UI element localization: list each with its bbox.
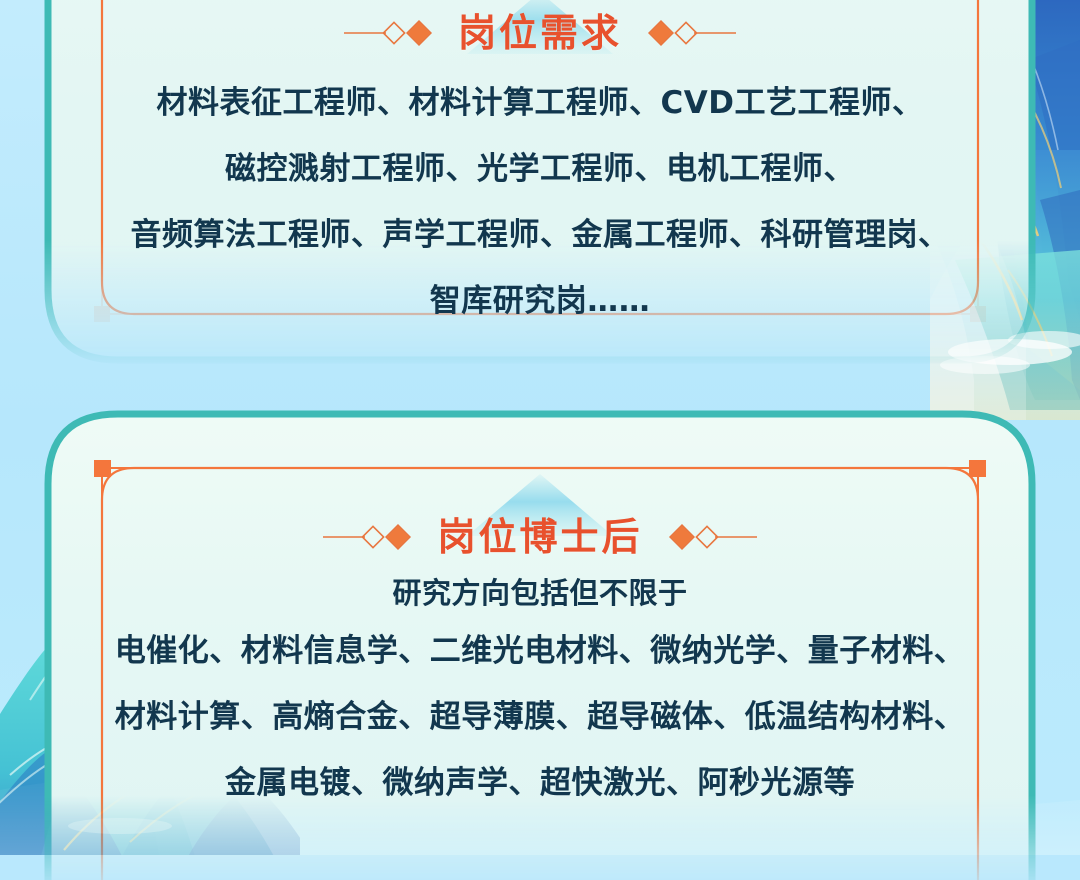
card2-subtitle: 研究方向包括但不限于 bbox=[44, 560, 1036, 626]
card2-title-row: 岗位博士后 bbox=[44, 518, 1036, 556]
card2-body: 电催化、材料信息学、二维光电材料、微纳光学、量子材料、 材料计算、高熵合金、超导… bbox=[44, 618, 1036, 816]
diamond-pair-right-ornament bbox=[636, 20, 736, 46]
job-requirements-card: 岗位需求 材料表征工程师、材料计算工程师、CVD工艺工程师、 磁控溅射工程师、光… bbox=[44, 0, 1036, 368]
card1-line-1: 材料表征工程师、材料计算工程师、CVD工艺工程师、 bbox=[44, 70, 1036, 136]
card2-line-3: 金属电镀、微纳声学、超快激光、阿秒光源等 bbox=[44, 750, 1036, 816]
card1-line-2: 磁控溅射工程师、光学工程师、电机工程师、 bbox=[44, 136, 1036, 202]
diamond-pair-left-ornament bbox=[344, 20, 444, 46]
card2-line-1: 电催化、材料信息学、二维光电材料、微纳光学、量子材料、 bbox=[44, 618, 1036, 684]
card1-title-block: 岗位需求 bbox=[44, 14, 1036, 52]
card1-title-row: 岗位需求 bbox=[44, 14, 1036, 52]
card1-line-3: 音频算法工程师、声学工程师、金属工程师、科研管理岗、 bbox=[44, 202, 1036, 268]
card2-title: 岗位博士后 bbox=[437, 518, 642, 556]
diamond-pair-right-ornament bbox=[657, 524, 757, 550]
diamond-pair-left-ornament bbox=[323, 524, 423, 550]
card1-line-4: 智库研究岗…… bbox=[44, 268, 1036, 334]
card2-line-2: 材料计算、高熵合金、超导薄膜、超导磁体、低温结构材料、 bbox=[44, 684, 1036, 750]
card1-body: 材料表征工程师、材料计算工程师、CVD工艺工程师、 磁控溅射工程师、光学工程师、… bbox=[44, 70, 1036, 334]
card1-title: 岗位需求 bbox=[458, 14, 622, 52]
card2-title-block: 岗位博士后 bbox=[44, 518, 1036, 556]
card2-subtitle-block: 研究方向包括但不限于 bbox=[44, 560, 1036, 626]
postdoc-positions-card: 岗位博士后 研究方向包括但不限于 电催化、材料信息学、二维光电材料、微纳光学、量… bbox=[44, 410, 1036, 880]
